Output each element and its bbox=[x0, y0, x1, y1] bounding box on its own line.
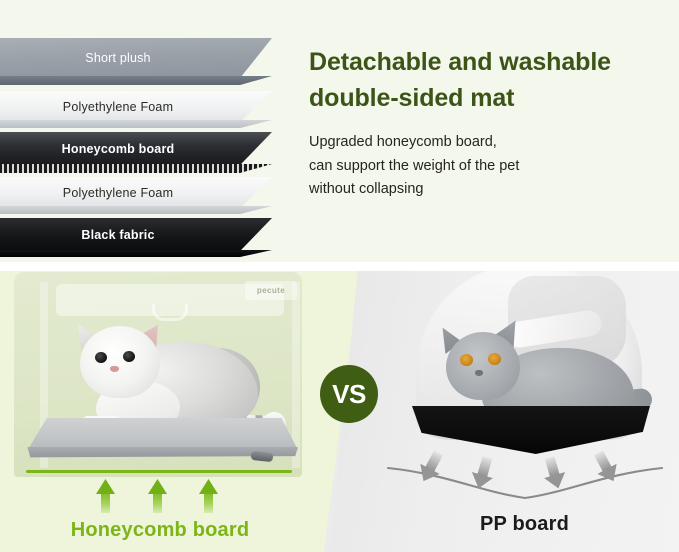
arrow-head bbox=[148, 479, 167, 494]
cat-nose bbox=[475, 370, 483, 376]
brand-logo-patch: pecute bbox=[245, 281, 297, 300]
upward-force-arrow-icon bbox=[96, 479, 115, 513]
material-layer-honeycomb-board: Honeycomb board bbox=[0, 132, 272, 165]
product-infographic: Short plush Polyethylene Foam Honeycomb … bbox=[0, 0, 679, 552]
material-layer-label: Short plush bbox=[85, 51, 168, 65]
marketing-copy-block: Detachable and washable double-sided mat… bbox=[309, 46, 667, 202]
headline-line-2: double-sided mat bbox=[309, 82, 514, 115]
arrow-head bbox=[96, 479, 115, 494]
mat-top-surface bbox=[22, 418, 298, 450]
arrow-head bbox=[199, 479, 218, 494]
panel-divider bbox=[0, 262, 679, 271]
material-layer-black-fabric: Black fabric bbox=[0, 218, 272, 251]
cat-eye-right bbox=[488, 353, 501, 365]
cat-eye-right bbox=[123, 351, 135, 362]
honeycomb-board-scene: pecute bbox=[0, 270, 320, 482]
layer-edge-black-fabric bbox=[0, 250, 272, 257]
cat-nose bbox=[110, 366, 119, 372]
arrow-shaft bbox=[101, 491, 110, 513]
cat-head bbox=[80, 326, 160, 398]
material-layer-label: Black fabric bbox=[81, 228, 172, 242]
carrier-handle-icon bbox=[152, 304, 188, 321]
material-layer-stack-diagram: Short plush Polyethylene Foam Honeycomb … bbox=[0, 28, 292, 243]
arrow-shaft bbox=[204, 491, 213, 513]
top-feature-panel: Short plush Polyethylene Foam Honeycomb … bbox=[0, 0, 679, 265]
cat-head bbox=[446, 332, 520, 400]
flat-support-line bbox=[26, 470, 292, 473]
cat-eye-left bbox=[95, 352, 107, 363]
material-layer-label: Polyethylene Foam bbox=[63, 100, 191, 114]
caption-honeycomb-board: Honeycomb board bbox=[0, 519, 320, 542]
layer-edge-honeycomb-corrugation bbox=[0, 164, 272, 173]
material-layer-label: Polyethylene Foam bbox=[63, 186, 191, 200]
arrow-shaft bbox=[153, 491, 162, 513]
versus-badge: VS bbox=[320, 365, 378, 423]
headline-line-1: Detachable and washable bbox=[309, 46, 611, 79]
pp-board-scene bbox=[370, 270, 679, 470]
material-layer-polyethylene-foam-bottom: Polyethylene Foam bbox=[0, 177, 272, 208]
cat-eye-left bbox=[460, 354, 473, 366]
versus-label: VS bbox=[332, 381, 366, 407]
body-copy: Upgraded honeycomb board, can support th… bbox=[309, 131, 667, 202]
upward-force-arrow-icon bbox=[148, 479, 167, 513]
layer-edge-foam-bottom bbox=[0, 206, 272, 214]
material-layer-short-plush: Short plush bbox=[0, 38, 272, 78]
material-layer-label: Honeycomb board bbox=[62, 142, 193, 156]
pp-mat-sagging bbox=[412, 406, 650, 454]
caption-pp-board: PP board bbox=[370, 513, 679, 536]
material-layer-polyethylene-foam-top: Polyethylene Foam bbox=[0, 91, 272, 122]
upward-force-arrow-icon bbox=[199, 479, 218, 513]
layer-edge-short-plush bbox=[0, 76, 272, 85]
layer-edge-foam-top bbox=[0, 120, 272, 128]
